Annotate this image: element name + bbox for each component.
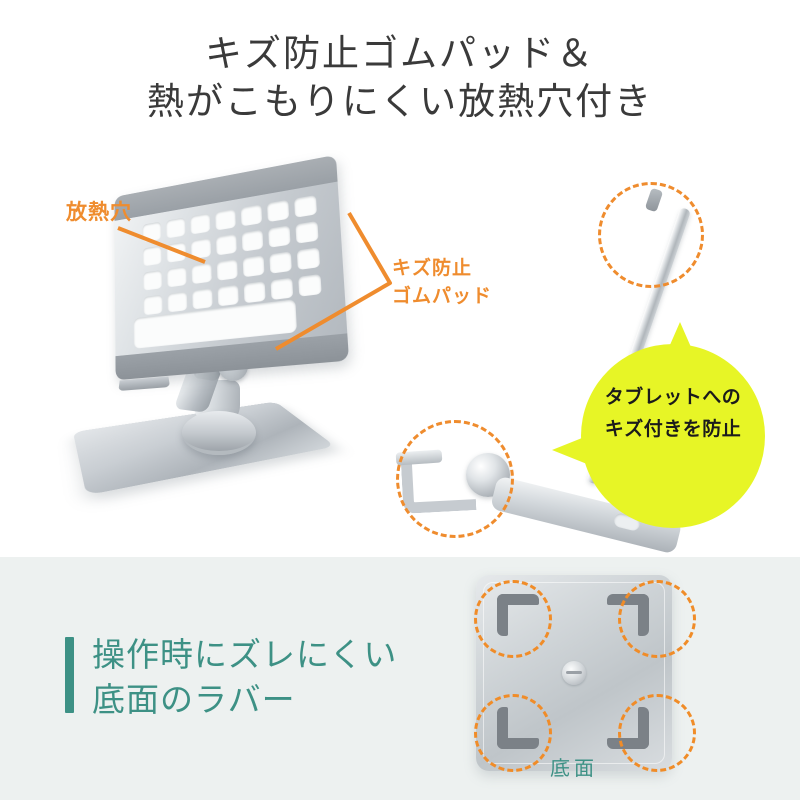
vent-hole (192, 263, 212, 284)
label-rubber-pad-line-1: キズ防止 (392, 255, 492, 283)
vent-hole (143, 270, 162, 291)
vent-hole (167, 266, 187, 287)
vent-hole (294, 195, 317, 218)
highlight-circle-pad-top-left (474, 580, 552, 658)
stand-swivel-disc (182, 411, 256, 455)
vent-hole (271, 278, 294, 300)
stand-support-panel (114, 155, 349, 380)
vent-hole (241, 204, 262, 226)
vent-hole (216, 234, 237, 256)
vent-hole (267, 200, 289, 222)
headline-line-1: キズ防止ゴムパッド＆ (0, 30, 800, 78)
vent-hole (190, 213, 210, 234)
top-section: キズ防止ゴムパッド＆ 熱がこもりにくい放熱穴付き (0, 0, 800, 557)
vent-hole (143, 246, 162, 267)
vent-hole-grid (142, 195, 321, 315)
vent-hole (217, 259, 238, 281)
label-vent-holes: 放熱穴 (66, 196, 132, 226)
base-plate-center-screw (562, 661, 586, 685)
label-rubber-pad: キズ防止 ゴムパッド (392, 255, 492, 311)
vent-hole (142, 222, 161, 243)
panel-body (114, 155, 349, 380)
callout-text: タブレットへの キズ付きを防止 (581, 382, 765, 446)
vent-hole (268, 225, 290, 247)
vent-hole (191, 238, 211, 259)
vent-hole (218, 285, 239, 307)
vent-hole (192, 288, 212, 309)
vent-hole (297, 247, 320, 270)
vent-hole (167, 242, 187, 263)
bottom-heading-line-1: 操作時にズレにくい (92, 632, 397, 677)
vent-hole (167, 291, 187, 312)
callout-line-2: キズ付きを防止 (581, 414, 765, 446)
bottom-heading-line-2: 底面のラバー (92, 677, 397, 722)
bottom-heading: 操作時にズレにくい 底面のラバー (92, 632, 397, 722)
base-plate-caption: 底面 (476, 752, 672, 781)
vent-hole (166, 217, 185, 238)
callout-line-1: タブレットへの (581, 382, 765, 414)
vent-hole (244, 281, 266, 303)
label-rubber-pad-line-2: ゴムパッド (392, 283, 492, 311)
heading-accent-bar (65, 637, 74, 713)
headline-line-2: 熱がこもりにくい放熱穴付き (0, 78, 800, 126)
vent-hole (298, 274, 321, 297)
feature-panel-page: キズ防止ゴムパッド＆ 熱がこもりにくい放熱穴付き (0, 0, 800, 800)
vent-hole (143, 295, 162, 316)
vent-hole (269, 251, 291, 273)
vent-hole (242, 230, 264, 252)
page-title: キズ防止ゴムパッド＆ 熱がこもりにくい放熱穴付き (0, 30, 800, 126)
highlight-circle-pad-top-right (618, 580, 696, 658)
vent-hole (295, 221, 318, 244)
vent-hole (243, 255, 265, 277)
highlight-circle-bottom-pad (396, 420, 514, 538)
vent-hole (215, 209, 236, 231)
highlight-circle-top-pad (598, 182, 704, 288)
